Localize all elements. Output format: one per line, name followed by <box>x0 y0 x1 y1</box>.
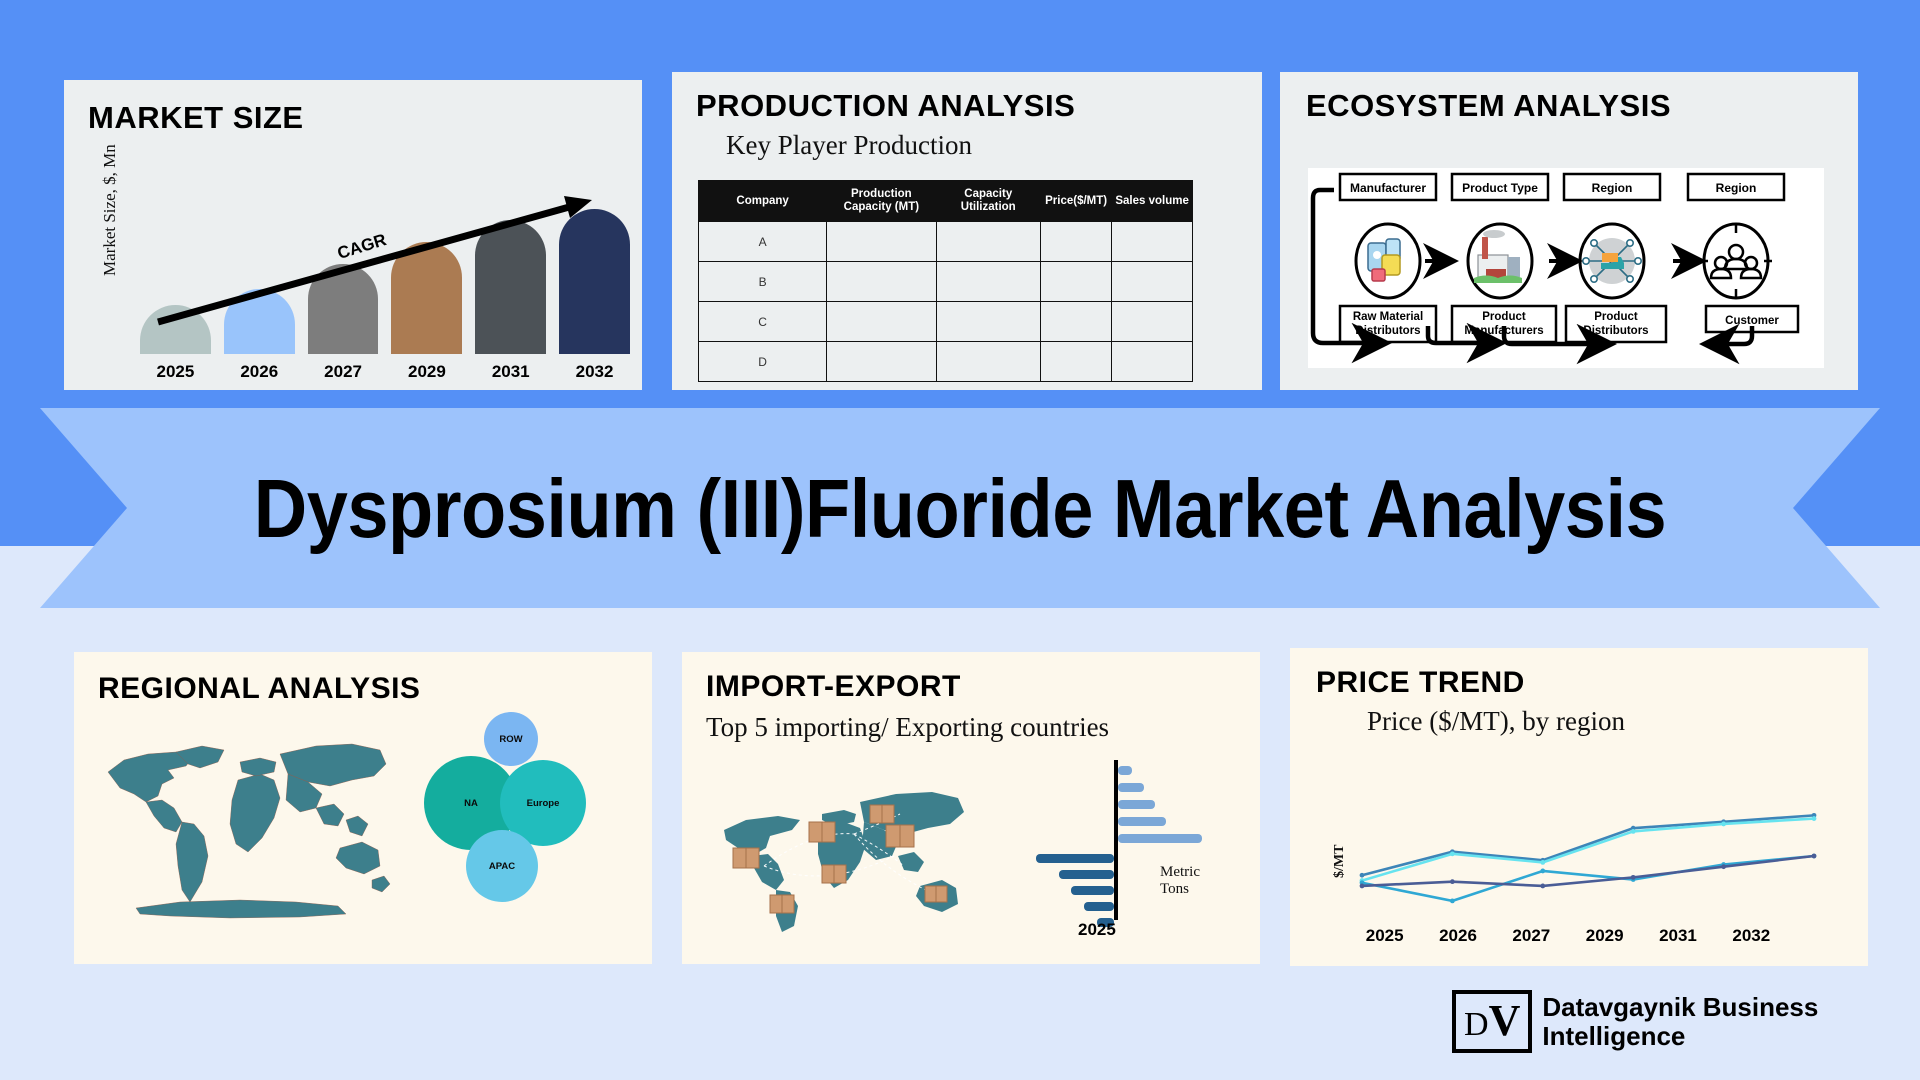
table-cell: D <box>699 342 827 382</box>
market-size-title: MARKET SIZE <box>88 100 304 136</box>
table-row: D <box>699 342 1193 382</box>
market-size-year-label: 2031 <box>475 362 546 382</box>
table-cell <box>827 342 936 382</box>
logo-wordmark: Datavgaynik Business Intelligence <box>1542 993 1818 1050</box>
table-cell <box>1041 342 1112 382</box>
ecosystem-analysis-card: ECOSYSTEM ANALYSIS ManufacturerProduct T… <box>1280 72 1858 390</box>
region-bubble-apac: APAC <box>466 830 538 902</box>
import-bar <box>1118 834 1202 843</box>
svg-text:Distributors: Distributors <box>1355 325 1420 337</box>
table-cell <box>936 302 1041 342</box>
price-trend-point <box>1450 898 1455 903</box>
ecosystem-top-label-box: Region <box>1564 174 1660 200</box>
price-trend-point <box>1360 884 1365 889</box>
table-cell <box>827 222 936 262</box>
price-trend-line <box>1362 819 1814 881</box>
table-cell <box>936 222 1041 262</box>
market-size-year-label: 2027 <box>308 362 379 382</box>
price-trend-y-axis-label: $/MT <box>1332 845 1348 878</box>
table-cell <box>827 302 936 342</box>
regional-bubble-chart: NAEuropeAPACROW <box>424 712 614 912</box>
import-bar <box>1118 817 1166 826</box>
logo-line-1: Datavgaynik Business <box>1542 993 1818 1022</box>
ecosystem-bottom-label-box: ProductDistributors <box>1566 306 1666 342</box>
table-cell <box>1112 262 1193 302</box>
table-cell <box>1041 302 1112 342</box>
market-size-bar-column <box>475 194 546 354</box>
market-size-bar-column <box>224 194 295 354</box>
logo-mark-dv: D V <box>1452 990 1532 1053</box>
table-body: ABCD <box>699 222 1193 382</box>
tornado-center-axis <box>1114 760 1118 920</box>
tornado-unit-label: Metric Tons <box>1160 864 1232 898</box>
price-trend-line <box>1362 815 1814 875</box>
table-cell <box>936 342 1041 382</box>
tornado-year-label: 2025 <box>1078 920 1116 940</box>
price-trend-year-label: 2029 <box>1568 926 1641 946</box>
table-cell: A <box>699 222 827 262</box>
import-export-title: IMPORT-EXPORT <box>706 670 961 704</box>
price-trend-point <box>1540 869 1545 874</box>
market-size-bar-column <box>140 194 211 354</box>
svg-text:Region: Region <box>1592 181 1633 195</box>
page-title: Dysprosium (III)Fluoride Market Analysis <box>254 460 1666 555</box>
price-trend-point <box>1631 875 1636 880</box>
price-trend-point <box>1631 829 1636 834</box>
table-column-header: Capacity Utilization <box>936 181 1041 222</box>
table-cell: B <box>699 262 827 302</box>
price-trend-year-label: 2026 <box>1421 926 1494 946</box>
table-row: A <box>699 222 1193 262</box>
table-cell <box>827 262 936 302</box>
market-size-year-label: 2026 <box>224 362 295 382</box>
market-size-y-axis-label: Market Size, $, Mn <box>100 144 120 276</box>
export-bar <box>1084 902 1114 911</box>
table-cell <box>1041 262 1112 302</box>
price-trend-card: PRICE TREND Price ($/MT), by region $/MT… <box>1290 648 1868 966</box>
main-title-ribbon: Dysprosium (III)Fluoride Market Analysis <box>40 408 1880 608</box>
market-size-plot: CAGR 202520262027202920312032 <box>140 190 630 390</box>
import-export-subtitle: Top 5 importing/ Exporting countries <box>706 712 1109 743</box>
price-trend-year-label: 2031 <box>1641 926 1714 946</box>
import-export-tornado-chart: Metric Tons 2025 <box>1032 760 1232 940</box>
price-trend-point <box>1360 873 1365 878</box>
market-size-bar <box>140 305 211 354</box>
price-trend-point <box>1721 822 1726 827</box>
ecosystem-top-label-box: Region <box>1688 174 1784 200</box>
logo-letter-d: D <box>1464 1006 1489 1044</box>
table-header-row: CompanyProduction Capacity (MT)Capacity … <box>699 181 1193 222</box>
ecosystem-value-chain-svg: ManufacturerProduct TypeRegionRegion Raw… <box>1308 168 1824 368</box>
table-row: C <box>699 302 1193 342</box>
ecosystem-node-circle <box>1704 224 1768 298</box>
import-bar <box>1118 766 1132 775</box>
table-cell <box>1112 342 1193 382</box>
trade-route-map-icon <box>704 770 994 935</box>
price-trend-subtitle: Price ($/MT), by region <box>1356 706 1636 738</box>
key-player-production-table: CompanyProduction Capacity (MT)Capacity … <box>698 180 1193 382</box>
import-bar <box>1118 783 1144 792</box>
svg-text:Customer: Customer <box>1725 315 1779 327</box>
table-cell <box>936 262 1041 302</box>
production-analysis-card: PRODUCTION ANALYSIS Key Player Productio… <box>672 72 1262 390</box>
table-column-header: Price($/MT) <box>1041 181 1112 222</box>
market-size-bars <box>140 194 630 354</box>
table-cell <box>1112 302 1193 342</box>
table-cell: C <box>699 302 827 342</box>
logo-letter-v: V <box>1489 995 1521 1046</box>
region-bubble-row: ROW <box>484 712 538 766</box>
export-bar <box>1071 886 1114 895</box>
barrels-icon <box>1368 239 1400 281</box>
market-size-bar-column <box>308 194 379 354</box>
price-trend-point <box>1540 884 1545 889</box>
table-cell <box>1041 222 1112 262</box>
production-analysis-subtitle: Key Player Production <box>726 130 972 161</box>
import-bar <box>1118 800 1155 809</box>
world-map-icon <box>90 720 400 935</box>
table-row: B <box>699 262 1193 302</box>
ecosystem-diagram: ManufacturerProduct TypeRegionRegion Raw… <box>1308 168 1824 368</box>
logo-line-2: Intelligence <box>1542 1022 1818 1051</box>
brand-logo: D V Datavgaynik Business Intelligence <box>1452 990 1818 1053</box>
market-size-bar <box>559 209 630 354</box>
import-export-card: IMPORT-EXPORT Top 5 importing/ Exporting… <box>682 652 1260 964</box>
distribution-network-icon <box>1583 238 1641 284</box>
price-trend-year-label: 2027 <box>1495 926 1568 946</box>
price-trend-year-label: 2025 <box>1348 926 1421 946</box>
price-trend-year-label: 2032 <box>1715 926 1788 946</box>
svg-text:Product: Product <box>1594 311 1638 323</box>
ecosystem-bottom-label-box: Raw MaterialDistributors <box>1340 306 1436 342</box>
export-bar <box>1059 870 1114 879</box>
ecosystem-top-label-box: Manufacturer <box>1340 174 1436 200</box>
table-column-header: Company <box>699 181 827 222</box>
price-trend-x-axis-labels: 202520262027202920312032 <box>1348 926 1788 946</box>
market-size-card: MARKET SIZE Market Size, $, Mn CAGR 2025… <box>64 80 642 390</box>
price-trend-point <box>1450 851 1455 856</box>
market-size-bar <box>391 242 462 354</box>
market-size-bar <box>308 264 379 354</box>
price-trend-point <box>1450 879 1455 884</box>
svg-text:Raw Material: Raw Material <box>1353 311 1423 323</box>
market-size-bar <box>224 289 295 354</box>
price-trend-point <box>1540 860 1545 865</box>
market-size-bar-column <box>559 194 630 354</box>
market-size-bar-column <box>391 194 462 354</box>
production-analysis-title: PRODUCTION ANALYSIS <box>696 88 1075 124</box>
svg-text:Distributors: Distributors <box>1583 325 1648 337</box>
ecosystem-top-label-box: Product Type <box>1452 174 1548 200</box>
price-trend-title: PRICE TREND <box>1316 666 1525 700</box>
market-size-year-label: 2029 <box>391 362 462 382</box>
svg-text:Product: Product <box>1482 311 1526 323</box>
price-trend-point <box>1812 854 1817 859</box>
price-trend-point <box>1812 816 1817 821</box>
svg-text:Region: Region <box>1716 181 1757 195</box>
market-size-year-label: 2032 <box>559 362 630 382</box>
market-size-bar <box>475 220 546 354</box>
market-size-year-label: 2025 <box>140 362 211 382</box>
table-cell <box>1112 222 1193 262</box>
price-trend-point <box>1721 864 1726 869</box>
regional-analysis-title: REGIONAL ANALYSIS <box>98 672 420 706</box>
ecosystem-analysis-title: ECOSYSTEM ANALYSIS <box>1306 88 1671 124</box>
table-column-header: Production Capacity (MT) <box>827 181 936 222</box>
svg-text:Manufacturer: Manufacturer <box>1350 181 1426 195</box>
export-bar <box>1036 854 1114 863</box>
market-size-year-labels: 202520262027202920312032 <box>140 362 630 382</box>
svg-text:Product Type: Product Type <box>1462 181 1538 195</box>
table-column-header: Sales volume <box>1112 181 1193 222</box>
regional-analysis-card: REGIONAL ANALYSIS NAEuropeAPACROW <box>74 652 652 964</box>
price-trend-line-chart <box>1348 798 1838 918</box>
